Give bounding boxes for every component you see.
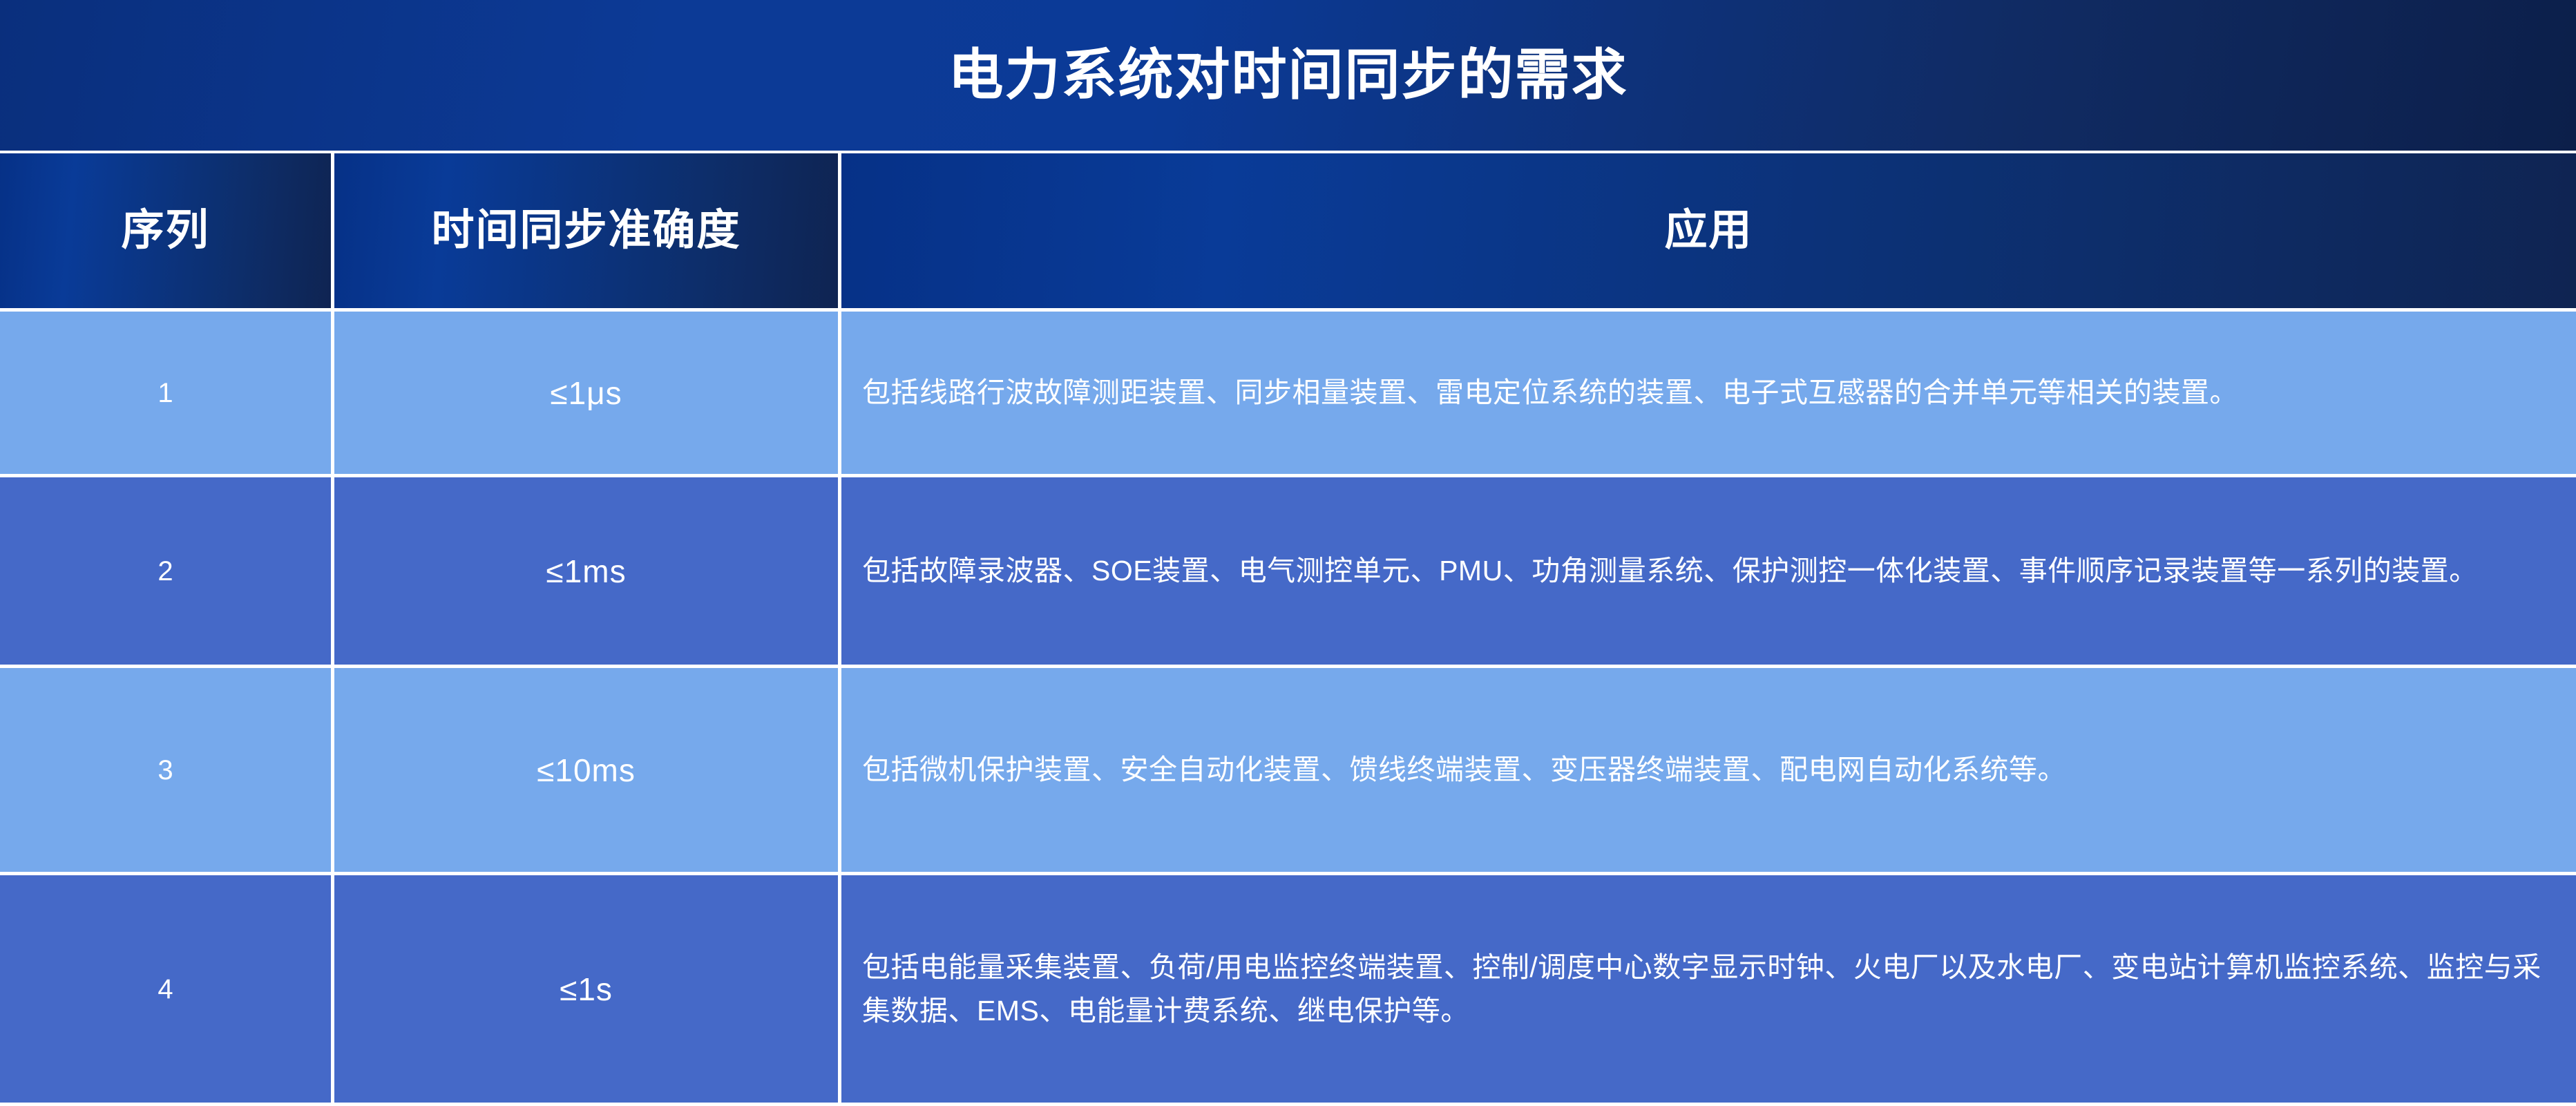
- slide-canvas: 电力系统对时间同步的需求 序列 时间同步准确度 应用 1 ≤1μs 包括线路: [0, 0, 2576, 1106]
- accuracy-value: ≤1μs: [550, 377, 622, 409]
- page-title: 电力系统对时间同步的需求: [948, 48, 1628, 103]
- application-text: 包括电能量采集装置、负荷/用电监控终端装置、控制/调度中心数字显示时钟、火电厂以…: [862, 946, 2553, 1032]
- accuracy-value: ≤1s: [560, 973, 613, 1005]
- title-band: 电力系统对时间同步的需求: [0, 0, 2576, 151]
- cell-accuracy: ≤10ms: [334, 668, 841, 875]
- cell-sequence: 4: [0, 875, 334, 1106]
- table-header-row: 序列 时间同步准确度 应用: [0, 153, 2576, 312]
- application-text: 包括线路行波故障测距装置、同步相量装置、雷电定位系统的装置、电子式互感器的合并单…: [862, 371, 2238, 414]
- sequence-value: 1: [158, 379, 173, 407]
- cell-application: 包括微机保护装置、安全自动化装置、馈线终端装置、变压器终端装置、配电网自动化系统…: [841, 668, 2576, 875]
- cell-sequence: 3: [0, 668, 334, 875]
- header-cell-accuracy: 时间同步准确度: [334, 153, 841, 312]
- application-text: 包括故障录波器、SOE装置、电气测控单元、PMU、功角测量系统、保护测控一体化装…: [862, 549, 2478, 592]
- header-cell-application: 应用: [841, 153, 2576, 312]
- sequence-value: 2: [158, 557, 173, 585]
- table-row: 1 ≤1μs 包括线路行波故障测距装置、同步相量装置、雷电定位系统的装置、电子式…: [0, 312, 2576, 477]
- cell-accuracy: ≤1μs: [334, 312, 841, 477]
- cell-sequence: 1: [0, 312, 334, 477]
- header-label-accuracy: 时间同步准确度: [431, 209, 741, 252]
- cell-sequence: 2: [0, 477, 334, 668]
- table-row: 2 ≤1ms 包括故障录波器、SOE装置、电气测控单元、PMU、功角测量系统、保…: [0, 477, 2576, 668]
- sequence-value: 3: [158, 756, 173, 784]
- accuracy-value: ≤10ms: [537, 754, 636, 786]
- cell-accuracy: ≤1ms: [334, 477, 841, 668]
- cell-application: 包括线路行波故障测距装置、同步相量装置、雷电定位系统的装置、电子式互感器的合并单…: [841, 312, 2576, 477]
- cell-application: 包括电能量采集装置、负荷/用电监控终端装置、控制/调度中心数字显示时钟、火电厂以…: [841, 875, 2576, 1106]
- table-row: 3 ≤10ms 包括微机保护装置、安全自动化装置、馈线终端装置、变压器终端装置、…: [0, 668, 2576, 875]
- header-label-application: 应用: [1664, 209, 1753, 252]
- header-label-sequence: 序列: [121, 209, 209, 252]
- sequence-value: 4: [158, 975, 173, 1003]
- cell-accuracy: ≤1s: [334, 875, 841, 1106]
- header-cell-sequence: 序列: [0, 153, 334, 312]
- application-text: 包括微机保护装置、安全自动化装置、馈线终端装置、变压器终端装置、配电网自动化系统…: [862, 748, 2066, 791]
- cell-application: 包括故障录波器、SOE装置、电气测控单元、PMU、功角测量系统、保护测控一体化装…: [841, 477, 2576, 668]
- requirements-table: 序列 时间同步准确度 应用 1 ≤1μs 包括线路行波故障测距装置、同步相量装置…: [0, 153, 2576, 1106]
- accuracy-value: ≤1ms: [546, 555, 626, 587]
- table-row: 4 ≤1s 包括电能量采集装置、负荷/用电监控终端装置、控制/调度中心数字显示时…: [0, 875, 2576, 1106]
